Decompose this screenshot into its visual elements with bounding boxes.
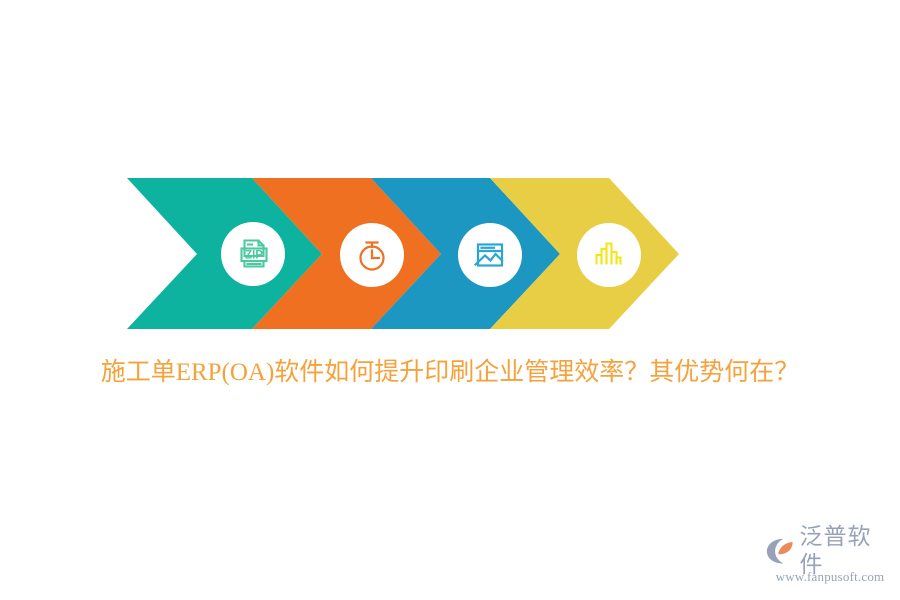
zip-label: ZIP <box>245 249 263 261</box>
logo-leaf-shape <box>778 542 792 554</box>
step-1-icon-badge[interactable]: ZIP <box>221 222 285 286</box>
step-2-icon-badge[interactable] <box>340 223 404 287</box>
step-4-icon-badge[interactable] <box>577 223 641 287</box>
zip-file-icon: ZIP <box>233 234 273 274</box>
watermark-brand-row: 泛普软件 <box>766 534 894 568</box>
stopwatch-icon <box>352 235 392 275</box>
page-canvas: ZIP <box>0 0 900 600</box>
page-title: 施工单ERP(OA)软件如何提升印刷企业管理效率？其优势何在？ <box>0 352 900 394</box>
watermark-url: www.fanpusoft.com <box>776 569 885 585</box>
image-card-icon <box>470 235 510 275</box>
watermark-logo: 泛普软件 www.fanpusoft.com <box>766 534 894 592</box>
bar-chart-icon <box>589 235 629 275</box>
fanpu-logo-mark <box>766 537 796 565</box>
step-3-icon-badge[interactable] <box>458 223 522 287</box>
